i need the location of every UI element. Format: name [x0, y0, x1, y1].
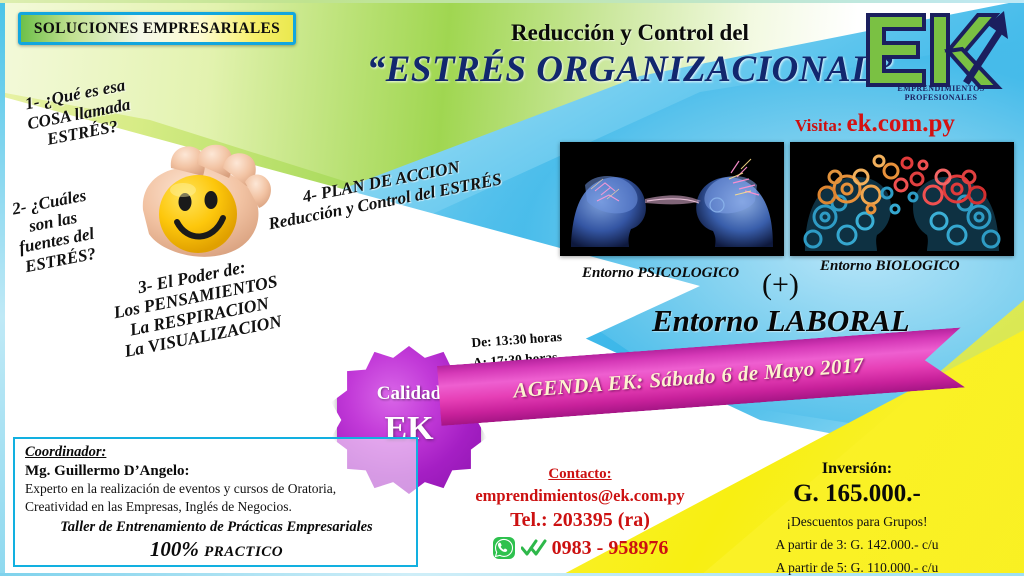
website-prefix: Visita:: [795, 116, 843, 135]
topic-item-2: 2- ¿Cuáles son las fuentes del ESTRÉS?: [10, 185, 100, 276]
investment-tier-1: A partir de 3: G. 142.000.- c/u: [712, 536, 1002, 554]
investment-discount-note: ¡Descuentos para Grupos!: [712, 513, 1002, 531]
caption-biological: Entorno BIOLOGICO: [820, 258, 960, 275]
company-badge: SOLUCIONES EMPRESARIALES: [18, 12, 296, 45]
contact-email[interactable]: emprendimientos@ek.com.py: [455, 486, 705, 506]
investment-block: Inversión: G. 165.000.- ¡Descuentos para…: [712, 460, 1002, 576]
poster-canvas: SOLUCIONES EMPRESARIALES Reducción y Con…: [0, 0, 1024, 576]
company-badge-label: SOLUCIONES EMPRESARIALES: [34, 20, 280, 38]
practico-number: 100%: [150, 537, 199, 561]
contact-whatsapp-number[interactable]: 0983 - 958976: [552, 537, 669, 560]
practico-word: PRACTICO: [204, 544, 283, 560]
practico-line: 100% PRACTICO: [25, 537, 408, 562]
photo-biological-environment: [790, 142, 1014, 256]
stress-ball-svg: [135, 138, 295, 278]
coordinator-desc-1: Experto en la realización de eventos y c…: [25, 481, 408, 498]
photo-psychological-environment: [560, 142, 784, 256]
ek-logo-tagline: EMPRENDIMIENTOS PROFESIONALES: [862, 84, 1020, 102]
website-url[interactable]: ek.com.py: [847, 110, 955, 137]
investment-tier-2: A partir de 5: G. 110.000.- c/u: [712, 559, 1002, 576]
page-title: “ESTRÉS ORGANIZACIONAL”: [320, 48, 940, 91]
investment-title: Inversión:: [712, 460, 1002, 478]
contact-phone[interactable]: Tel.: 203395 (ra): [455, 509, 705, 532]
website-line[interactable]: Visita: ek.com.py: [795, 110, 955, 138]
stress-ball-photo: [135, 138, 295, 278]
neural-heads-svg: [561, 143, 783, 255]
subtitle-line: Reducción y Control del: [370, 20, 890, 46]
border-top-edge: [0, 0, 1024, 3]
workshop-title: Taller de Entrenamiento de Prácticas Emp…: [25, 519, 408, 536]
double-check-icon: [521, 539, 547, 557]
contact-title: Contacto:: [455, 466, 705, 483]
contact-whatsapp-row[interactable]: 0983 - 958976: [455, 536, 705, 560]
plus-symbol: (+): [762, 268, 799, 302]
coordinator-box: Coordinador: Mg. Guillermo D’Angelo: Exp…: [13, 437, 418, 567]
contact-block: Contacto: emprendimientos@ek.com.py Tel.…: [455, 466, 705, 560]
gear-heads-svg: [791, 143, 1013, 255]
coordinator-name: Mg. Guillermo D’Angelo:: [25, 463, 408, 480]
caption-psychological: Entorno PSICOLOGICO: [582, 265, 739, 282]
whatsapp-icon[interactable]: [492, 536, 516, 560]
coordinator-desc-2: Creatividad en las Empresas, Inglés de N…: [25, 499, 408, 516]
border-left-edge: [0, 0, 5, 576]
coordinator-title: Coordinador:: [25, 444, 408, 461]
investment-price: G. 165.000.-: [712, 480, 1002, 508]
